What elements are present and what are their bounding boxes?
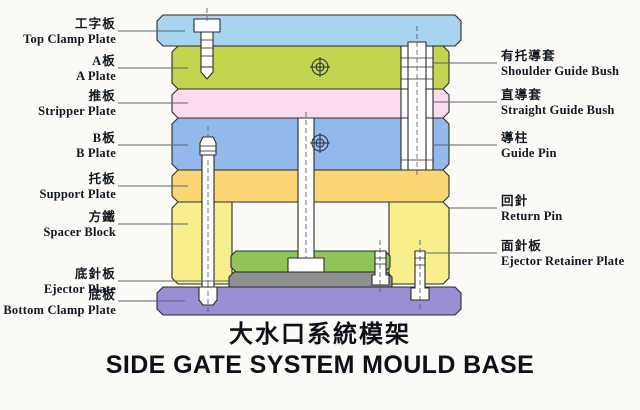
label-return-pin-cn: 回針 <box>501 195 562 208</box>
label-return-pin: 回針 Return Pin <box>501 195 562 222</box>
page-title-chinese: 大水口系統模架 <box>0 322 640 346</box>
label-b-plate-cn: B板 <box>76 132 116 145</box>
centre-sprue-foot <box>288 258 324 272</box>
label-a-plate-en: A Plate <box>76 70 116 83</box>
label-bottom-clamp-plate-en: Bottom Clamp Plate <box>3 304 116 317</box>
label-shoulder-guide-bush-cn: 有托導套 <box>501 50 619 63</box>
label-straight-guide-bush-en: Straight Guide Bush <box>501 104 615 117</box>
label-ejector-retainer-plate-en: Ejector Retainer Plate <box>501 255 624 268</box>
label-spacer-block-cn: 方鐵 <box>43 211 116 224</box>
label-guide-pin: 導柱 Guide Pin <box>501 132 557 159</box>
label-stripper-plate: 推板 Stripper Plate <box>38 90 116 117</box>
label-return-pin-en: Return Pin <box>501 210 562 223</box>
label-spacer-block-en: Spacer Block <box>43 226 116 239</box>
label-bottom-clamp-plate: 底板 Bottom Clamp Plate <box>3 289 116 316</box>
label-top-clamp-plate-en: Top Clamp Plate <box>23 33 116 46</box>
label-guide-pin-cn: 導柱 <box>501 132 557 145</box>
label-stripper-plate-cn: 推板 <box>38 90 116 103</box>
label-shoulder-guide-bush: 有托導套 Shoulder Guide Bush <box>501 50 619 77</box>
label-b-plate-en: B Plate <box>76 147 116 160</box>
label-a-plate-cn: A板 <box>76 55 116 68</box>
label-top-clamp-plate-cn: 工字板 <box>23 18 116 31</box>
label-a-plate: A板 A Plate <box>76 55 116 82</box>
label-b-plate: B板 B Plate <box>76 132 116 159</box>
label-ejector-retainer-plate: 面針板 Ejector Retainer Plate <box>501 240 624 267</box>
return-pin-head <box>372 251 389 285</box>
label-support-plate-en: Support Plate <box>39 188 116 201</box>
label-guide-pin-en: Guide Pin <box>501 147 557 160</box>
label-ejector-retainer-plate-cn: 面針板 <box>501 240 624 253</box>
label-shoulder-guide-bush-en: Shoulder Guide Bush <box>501 65 619 78</box>
label-support-plate-cn: 托板 <box>39 173 116 186</box>
page-title: 大水口系統模架 SIDE GATE SYSTEM MOULD BASE <box>0 322 640 378</box>
label-support-plate: 托板 Support Plate <box>39 173 116 200</box>
diagram-canvas: .o{stroke:#2a2a2a;stroke-width:1.1;strok… <box>0 0 640 410</box>
label-spacer-block: 方鐵 Spacer Block <box>43 211 116 238</box>
label-straight-guide-bush: 直導套 Straight Guide Bush <box>501 89 615 116</box>
label-stripper-plate-en: Stripper Plate <box>38 105 116 118</box>
label-ejector-plate-cn: 底針板 <box>44 268 116 281</box>
page-title-english: SIDE GATE SYSTEM MOULD BASE <box>0 353 640 378</box>
label-bottom-clamp-plate-cn: 底板 <box>3 289 116 302</box>
label-top-clamp-plate: 工字板 Top Clamp Plate <box>23 18 116 45</box>
label-straight-guide-bush-cn: 直導套 <box>501 89 615 102</box>
socket-head-bolt-shank <box>201 32 213 67</box>
